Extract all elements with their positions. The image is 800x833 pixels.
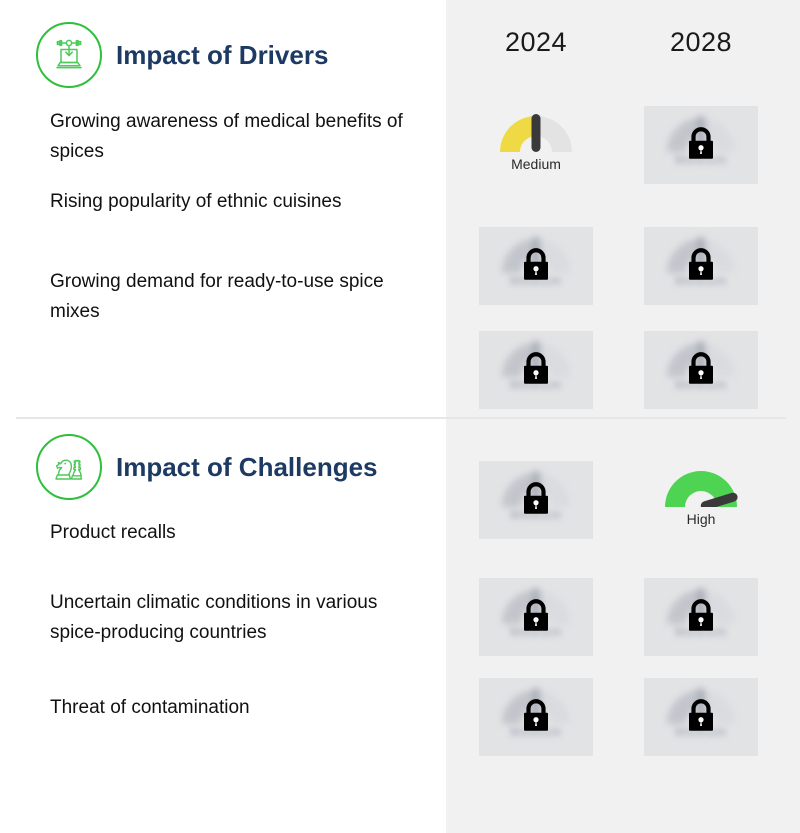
gauge-medium: Medium	[476, 104, 596, 192]
gauge-cell-challenges-1-2028[interactable]: Medium	[641, 576, 761, 664]
chess-pieces-icon	[36, 434, 102, 500]
locked-cell[interactable]: Medium	[644, 578, 758, 656]
gauge-cell-challenges-0-2024[interactable]: Medium	[476, 459, 596, 547]
lock-icon	[684, 597, 718, 635]
gauge-cell-challenges-0-2028[interactable]: High	[641, 459, 761, 547]
gauge-cell-drivers-2-2028[interactable]: Medium	[641, 329, 761, 417]
section-header-drivers: Impact of Drivers	[36, 22, 328, 88]
lock-icon	[684, 350, 718, 388]
challenge-item-0: Product recalls	[50, 518, 430, 548]
locked-cell[interactable]: Medium	[644, 678, 758, 756]
locked-cell[interactable]: Medium	[644, 106, 758, 184]
gauge-cell-challenges-2-2028[interactable]: Medium	[641, 676, 761, 764]
lock-icon	[519, 350, 553, 388]
year-column-2028: 2028	[641, 27, 761, 58]
section-title-challenges: Impact of Challenges	[116, 454, 378, 480]
gauge-arc	[496, 112, 576, 152]
lock-icon	[519, 246, 553, 284]
gauge-cell-drivers-2-2024[interactable]: Medium	[476, 329, 596, 417]
locked-cell[interactable]: Medium	[479, 578, 593, 656]
gauge-cell-drivers-1-2024[interactable]: Medium	[476, 225, 596, 313]
driver-item-0: Growing awareness of medical benefits of…	[50, 107, 430, 167]
year-column-2024: 2024	[476, 27, 596, 58]
gauge-cell-drivers-0-2024[interactable]: Medium	[476, 104, 596, 192]
lock-icon	[519, 480, 553, 518]
driver-item-1: Rising popularity of ethnic cuisines	[50, 187, 430, 217]
gauge-cell-drivers-1-2028[interactable]: Medium	[641, 225, 761, 313]
laptop-download-icon	[36, 22, 102, 88]
lock-icon	[519, 697, 553, 735]
section-title-drivers: Impact of Drivers	[116, 42, 328, 68]
lock-icon	[684, 246, 718, 284]
section-divider	[16, 417, 786, 419]
gauge-level-label: High	[641, 511, 761, 527]
locked-cell[interactable]: Medium	[644, 227, 758, 305]
gauge-level-label: Medium	[476, 156, 596, 172]
gauge-arc	[661, 467, 741, 507]
section-header-challenges: Impact of Challenges	[36, 434, 378, 500]
challenge-item-2: Threat of contamination	[50, 693, 430, 723]
driver-item-2: Growing demand for ready-to-use spice mi…	[50, 267, 430, 327]
impact-matrix-page: 2024 2028 Impact of Drivers Growing awar…	[0, 0, 800, 833]
gauge-cell-challenges-2-2024[interactable]: Medium	[476, 676, 596, 764]
gauge-cell-drivers-0-2028[interactable]: Medium	[641, 104, 761, 192]
gauge-cell-challenges-1-2024[interactable]: Medium	[476, 576, 596, 664]
challenge-item-1: Uncertain climatic conditions in various…	[50, 588, 430, 648]
lock-icon	[684, 697, 718, 735]
lock-icon	[519, 597, 553, 635]
locked-cell[interactable]: Medium	[479, 331, 593, 409]
lock-icon	[684, 125, 718, 163]
gauge-high: High	[641, 459, 761, 547]
locked-cell[interactable]: Medium	[644, 331, 758, 409]
locked-cell[interactable]: Medium	[479, 678, 593, 756]
locked-cell[interactable]: Medium	[479, 461, 593, 539]
locked-cell[interactable]: Medium	[479, 227, 593, 305]
